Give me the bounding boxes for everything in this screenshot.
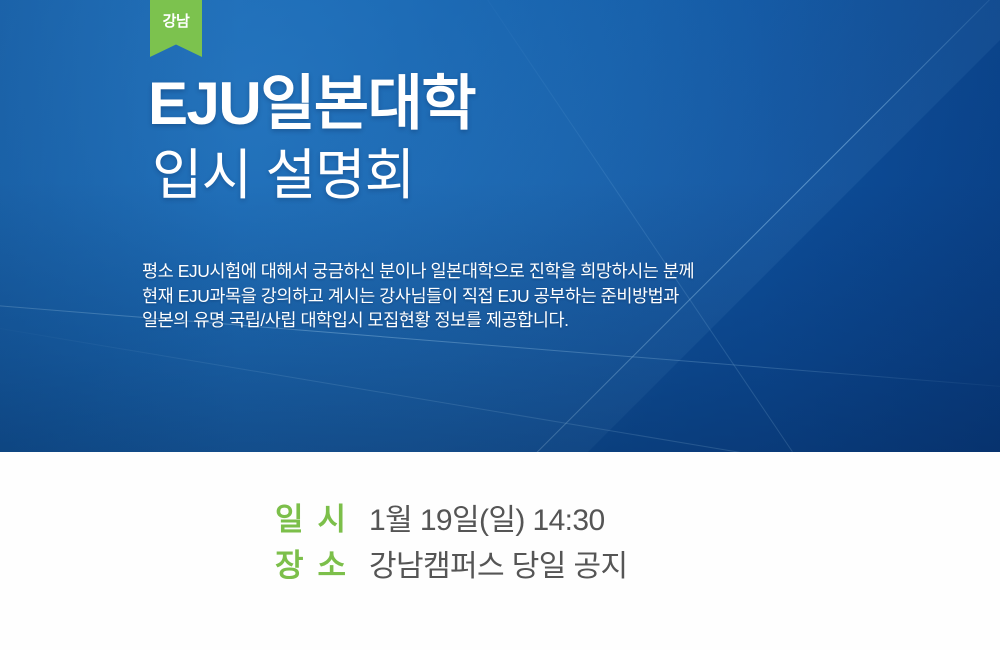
campus-ribbon-label: 강남 [150,14,202,29]
description-line-2: 현재 EJU과목을 강의하고 계시는 강사님들이 직접 EJU 공부하는 준비방… [142,284,694,309]
event-info-row-location: 장소 강남캠퍼스 당일 공지 [275,550,627,596]
description-line-3: 일본의 유명 국립/사립 대학입시 모집현황 정보를 제공합니다. [142,308,694,333]
event-info-panel: 일시 1월 19일(일) 14:30 장소 강남캠퍼스 당일 공지 [0,452,1000,650]
event-info-list: 일시 1월 19일(일) 14:30 장소 강남캠퍼스 당일 공지 [275,504,627,596]
hero-glow-overlay [0,0,780,452]
poster-title-block: EJU일본대학 입시 설명회 [148,74,475,203]
diagonal-line-bottom-right [445,0,793,452]
event-poster: 강남 EJU일본대학 입시 설명회 평소 EJU시험에 대해서 궁금하신 분이나… [0,0,1000,650]
event-location-label: 장소 [275,550,369,581]
diagonal-line-top-right [145,0,1000,452]
event-location-value: 강남캠퍼스 당일 공지 [369,552,627,582]
hero-vignette-overlay [0,0,1000,452]
diagonal-wedge-decoration [0,0,1000,452]
campus-ribbon-badge: 강남 [150,0,202,57]
poster-description: 평소 EJU시험에 대해서 궁금하신 분이나 일본대학으로 진학을 희망하시는 … [142,259,694,333]
diagonal-line-lower [0,318,1000,452]
event-info-row-datetime: 일시 1월 19일(일) 14:30 [275,504,627,550]
description-line-1: 평소 EJU시험에 대해서 궁금하신 분이나 일본대학으로 진학을 희망하시는 … [142,259,694,284]
event-datetime-value: 1월 19일(일) 14:30 [369,506,605,536]
event-datetime-label: 일시 [275,504,369,535]
poster-title-secondary: 입시 설명회 [152,148,475,203]
poster-title-primary: EJU일본대학 [148,74,475,134]
hero-banner: 강남 EJU일본대학 입시 설명회 평소 EJU시험에 대해서 궁금하신 분이나… [0,0,1000,452]
